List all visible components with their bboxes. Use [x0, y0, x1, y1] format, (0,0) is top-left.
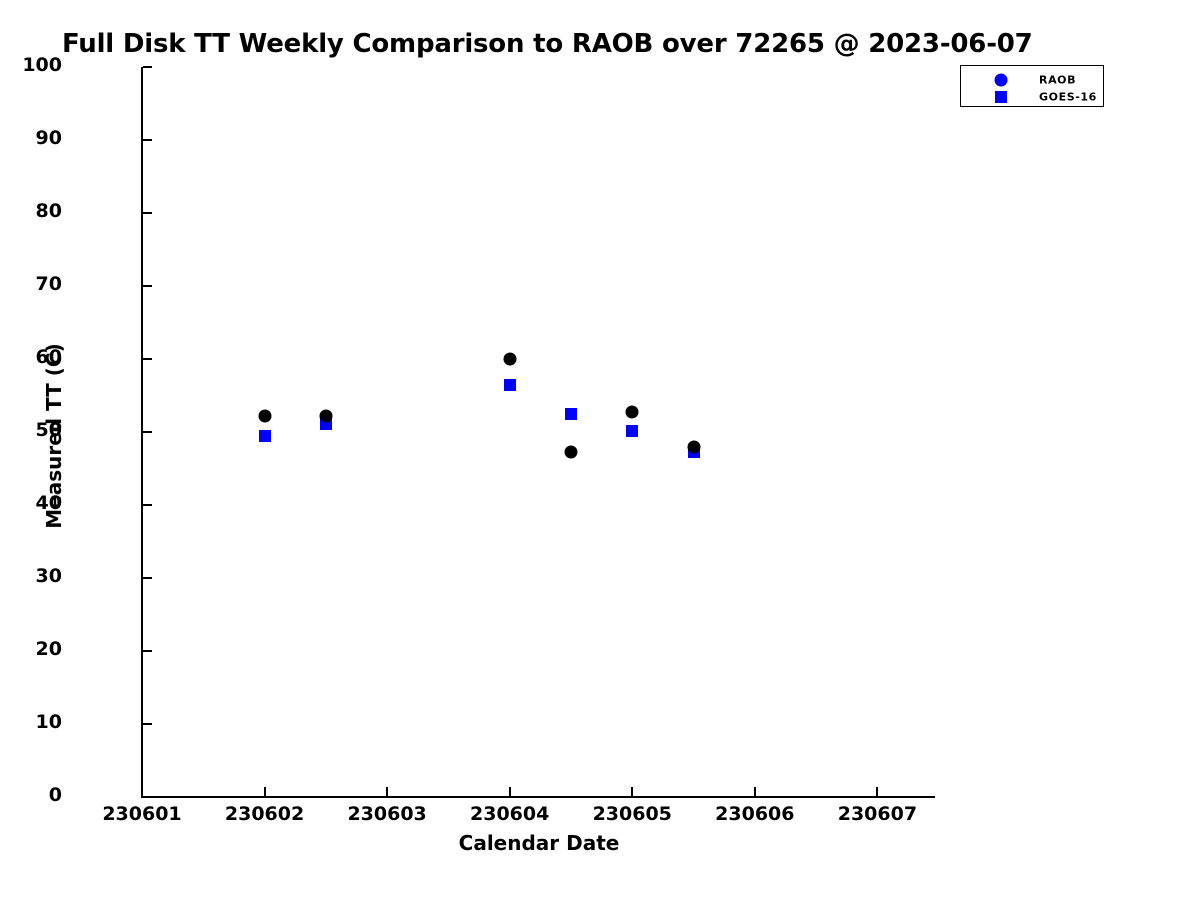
data-point-goes-16: [626, 425, 638, 437]
legend-item-raob[interactable]: RAOB: [961, 71, 1103, 89]
x-tick-label: 230604: [470, 803, 549, 825]
data-point-goes-16: [565, 408, 577, 420]
x-tick-label: 230603: [347, 803, 426, 825]
x-tick-label: 230602: [225, 803, 304, 825]
y-tick-label: 100: [22, 54, 62, 76]
y-axis-label: Measured TT (C): [42, 136, 66, 736]
legend-square-icon: [995, 91, 1007, 103]
x-tick-label: 230605: [593, 803, 672, 825]
data-point-raob: [687, 441, 700, 454]
legend-label: RAOB: [1039, 74, 1076, 87]
data-point-raob: [503, 353, 516, 366]
page-title: Full Disk TT Weekly Comparison to RAOB o…: [62, 29, 1033, 59]
chart-figure: Full Disk TT Weekly Comparison to RAOB o…: [0, 0, 1200, 900]
x-tick-label: 230606: [715, 803, 794, 825]
x-tick-label: 230607: [838, 803, 917, 825]
data-point-goes-16: [259, 430, 271, 442]
chart-legend: RAOBGOES-16: [960, 65, 1104, 107]
x-tick-label: 230601: [102, 803, 181, 825]
data-point-raob: [258, 409, 271, 422]
legend-circle-icon: [995, 74, 1008, 87]
legend-label: GOES-16: [1039, 91, 1097, 104]
plot-area: [142, 67, 935, 797]
data-point-raob: [626, 406, 639, 419]
y-tick-label: 0: [49, 784, 62, 806]
data-point-raob: [564, 445, 577, 458]
x-axis-label: Calendar Date: [0, 831, 1078, 855]
legend-item-goes-16[interactable]: GOES-16: [961, 88, 1103, 106]
data-point-raob: [319, 409, 332, 422]
data-point-goes-16: [504, 379, 516, 391]
